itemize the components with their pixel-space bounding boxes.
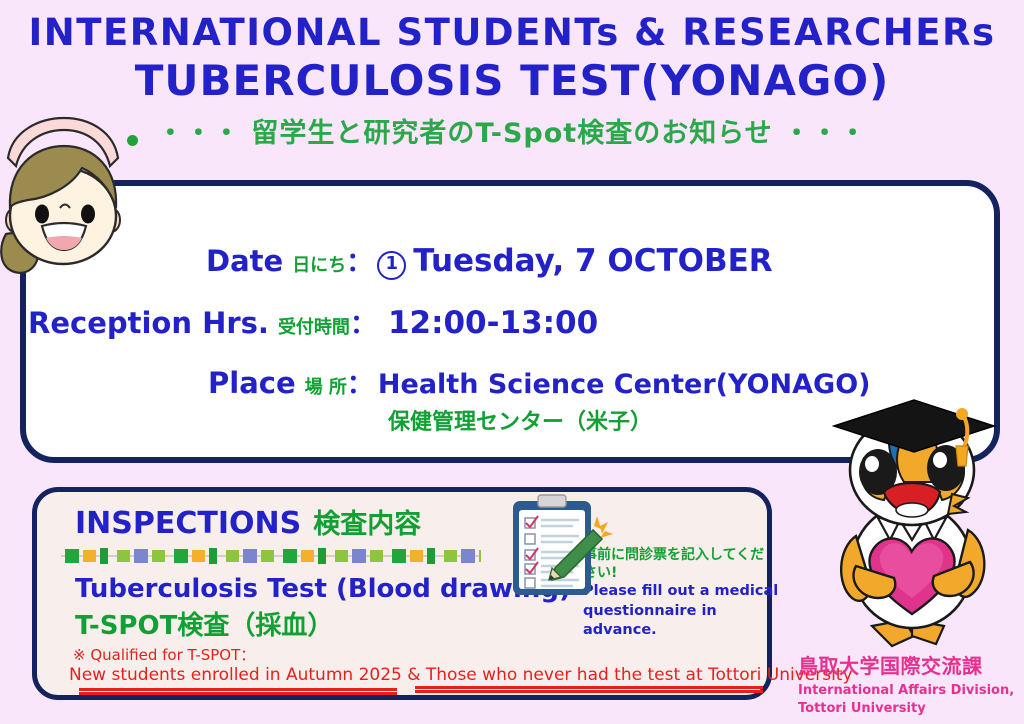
divider-square xyxy=(174,549,188,563)
place-label-en: Place xyxy=(208,366,296,400)
date-label-jp: 日にち xyxy=(292,255,346,276)
page-subtitle: ・・・ 留学生と研究者のT-Spot検査のお知らせ ・・・ xyxy=(0,111,1024,150)
underline-left-1 xyxy=(79,688,397,691)
date-label-en: Date xyxy=(206,244,283,278)
underline-right-1 xyxy=(415,686,763,689)
organization-footer: 鳥取大学国際交流課 International Affairs Division… xyxy=(798,650,1014,717)
divider-square xyxy=(209,548,217,564)
qualified-detail: New students enrolled in Autumn 2025 & T… xyxy=(69,665,853,685)
info-row-date: Date日にち：1Tuesday, 7 OCTOBER xyxy=(206,242,773,280)
divider-square xyxy=(261,550,274,562)
reception-value: 12:00-13:00 xyxy=(388,305,598,341)
underline-right-2 xyxy=(415,690,763,693)
divider-square xyxy=(192,550,205,562)
reception-colon: ： xyxy=(350,310,376,340)
poster-root: INTERNATIONAL STUDENTs & RESEARCHERs TUB… xyxy=(0,0,1024,724)
place-value-jp: 保健管理センター（米子） xyxy=(388,404,652,436)
divider-square xyxy=(243,549,257,563)
info-row-reception: Reception Hrs.受付時間：12:00-13:00 xyxy=(28,304,598,341)
date-number-badge: 1 xyxy=(377,251,406,280)
place-value: Health Science Center(YONAGO) xyxy=(378,369,871,400)
date-value: Tuesday, 7 OCTOBER xyxy=(413,243,772,279)
divider-square xyxy=(117,550,130,562)
inspection-line-en: Tuberculosis Test (Blood drawing) xyxy=(75,574,571,604)
info-row-place: Place場 所：Health Science Center(YONAGO) xyxy=(208,364,871,401)
divider-square xyxy=(352,549,366,563)
inspections-title: INSPECTIONS検査内容 xyxy=(75,502,421,541)
divider-square xyxy=(226,550,239,562)
place-colon: ： xyxy=(347,370,373,400)
inspections-title-jp: 検査内容 xyxy=(313,509,421,540)
underline-left-2 xyxy=(79,692,397,695)
divider-square xyxy=(370,550,383,562)
bird-mascot-illustration xyxy=(812,398,1017,656)
divider-square xyxy=(444,550,457,562)
divider-square xyxy=(152,550,165,562)
divider-square xyxy=(479,550,481,562)
divider-square xyxy=(427,548,435,564)
date-colon: ： xyxy=(346,248,372,278)
divider-square xyxy=(83,550,96,562)
decorative-divider xyxy=(61,547,481,565)
inspections-title-en: INSPECTIONS xyxy=(75,506,301,541)
divider-square xyxy=(318,548,326,564)
clipboard-icon xyxy=(505,492,620,604)
divider-square xyxy=(65,549,79,563)
organization-name-en-line1: International Affairs Division, xyxy=(798,682,1014,700)
divider-square xyxy=(100,548,108,564)
place-label-jp: 場 所 xyxy=(305,377,347,398)
divider-square xyxy=(461,549,475,563)
divider-square xyxy=(335,550,348,562)
nurse-character-illustration xyxy=(0,112,148,292)
divider-square xyxy=(410,550,423,562)
page-title-line2: TUBERCULOSIS TEST(YONAGO) xyxy=(0,57,1024,105)
reception-label-en: Reception Hrs. xyxy=(28,306,269,340)
organization-name-en-line2: Tottori University xyxy=(798,700,1014,718)
poster-header: INTERNATIONAL STUDENTs & RESEARCHERs TUB… xyxy=(0,14,1024,150)
inspection-line-jp: T-SPOT検査（採血） xyxy=(75,605,333,642)
divider-square xyxy=(301,550,314,562)
divider-square xyxy=(134,549,148,563)
page-title-line1: INTERNATIONAL STUDENTs & RESEARCHERs xyxy=(0,14,1024,51)
divider-square xyxy=(392,549,406,563)
reception-label-jp: 受付時間 xyxy=(278,317,350,338)
qualified-note: ※ Qualified for T-SPOT： xyxy=(73,644,255,665)
divider-square xyxy=(283,549,297,563)
